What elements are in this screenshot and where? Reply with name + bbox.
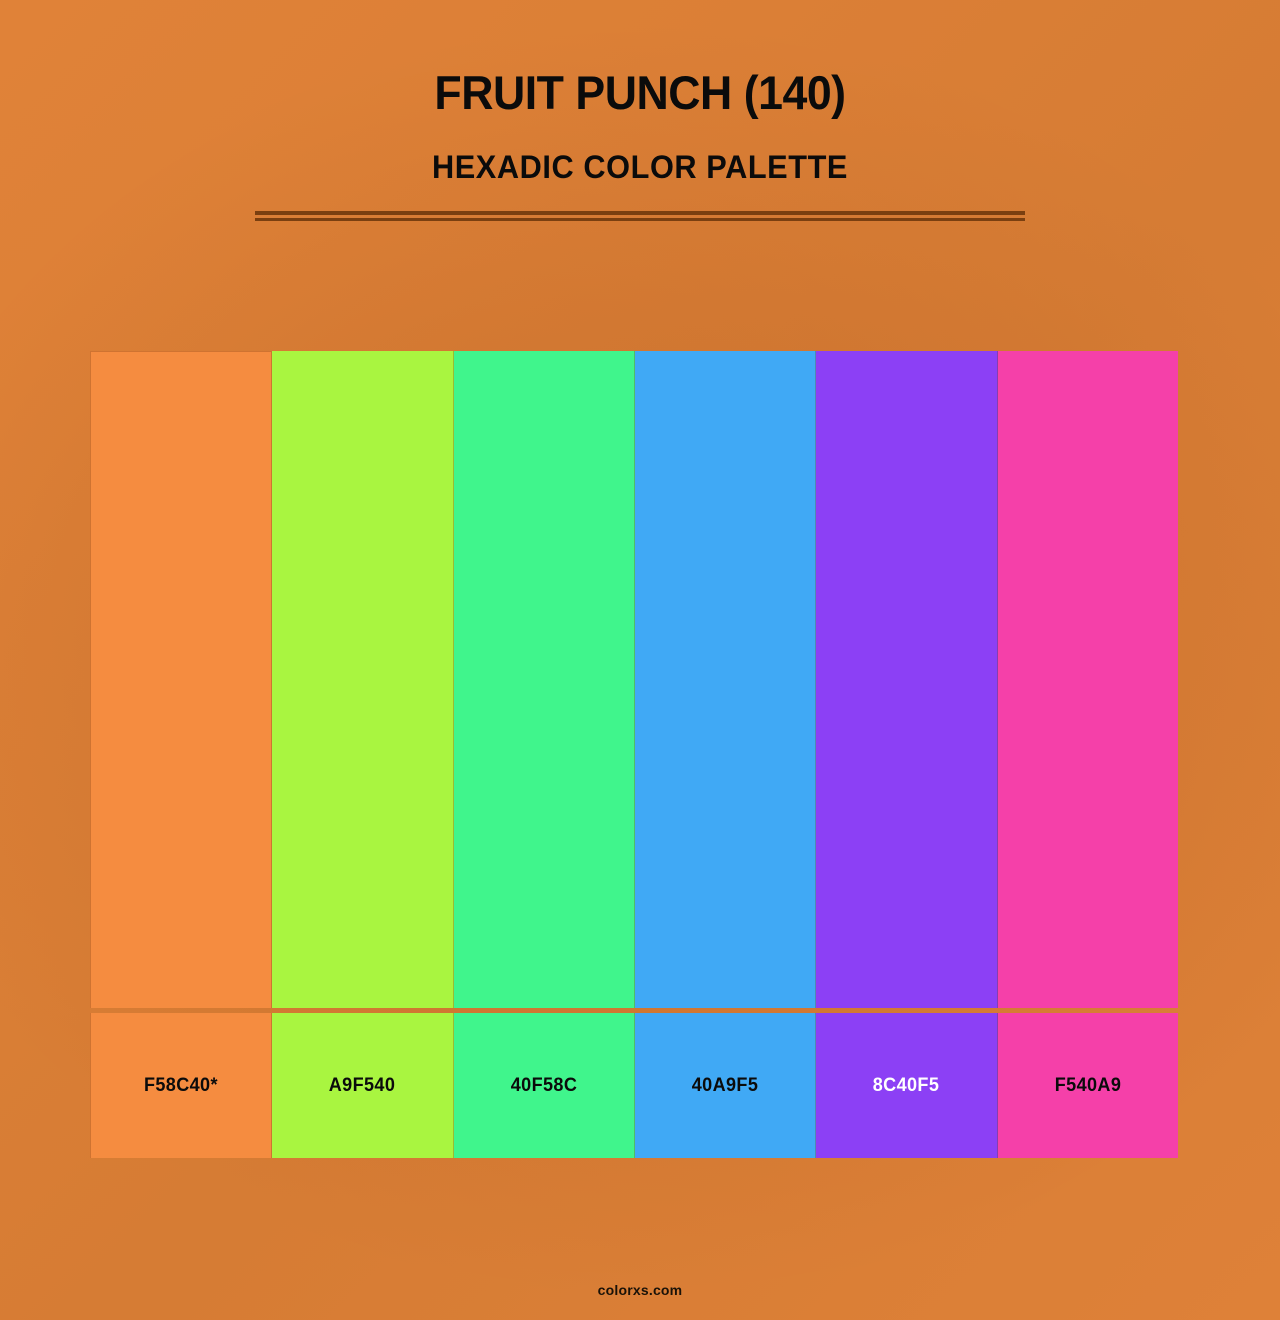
color-swatch-40A9F5[interactable] bbox=[635, 351, 816, 1008]
color-label-cell-40A9F5[interactable]: 40A9F5 bbox=[635, 1013, 816, 1158]
color-swatch-F58C40[interactable] bbox=[90, 351, 272, 1008]
color-hex-label: 8C40F5 bbox=[873, 1075, 940, 1097]
color-hex-label: A9F540 bbox=[329, 1075, 396, 1097]
header-divider bbox=[255, 211, 1025, 221]
color-swatch-8C40F5[interactable] bbox=[816, 351, 997, 1008]
color-label-cell-A9F540[interactable]: A9F540 bbox=[272, 1013, 453, 1158]
footer-site-credit: colorxs.com bbox=[0, 1282, 1280, 1298]
color-swatch-F540A9[interactable] bbox=[998, 351, 1178, 1008]
swatch-label-row: F58C40*A9F54040F58C40A9F58C40F5F540A9 bbox=[90, 1013, 1178, 1158]
color-hex-label: F540A9 bbox=[1055, 1075, 1122, 1097]
color-hex-label: F58C40* bbox=[144, 1075, 218, 1097]
color-label-cell-F58C40[interactable]: F58C40* bbox=[90, 1013, 272, 1158]
color-swatch-40F58C[interactable] bbox=[454, 351, 635, 1008]
swatch-row bbox=[90, 351, 1178, 1008]
color-palette: F58C40*A9F54040F58C40A9F58C40F5F540A9 bbox=[90, 351, 1178, 1158]
page-title: FRUIT PUNCH (140) bbox=[32, 68, 1248, 117]
color-label-cell-8C40F5[interactable]: 8C40F5 bbox=[816, 1013, 997, 1158]
color-label-cell-40F58C[interactable]: 40F58C bbox=[454, 1013, 635, 1158]
page-header: FRUIT PUNCH (140) HEXADIC COLOR PALETTE bbox=[0, 0, 1280, 221]
page-subtitle: HEXADIC COLOR PALETTE bbox=[26, 149, 1255, 186]
color-hex-label: 40F58C bbox=[511, 1075, 578, 1097]
color-hex-label: 40A9F5 bbox=[692, 1075, 759, 1097]
color-label-cell-F540A9[interactable]: F540A9 bbox=[998, 1013, 1178, 1158]
divider-line-thin bbox=[255, 218, 1025, 221]
divider-line-thick bbox=[255, 211, 1025, 215]
color-swatch-A9F540[interactable] bbox=[272, 351, 453, 1008]
